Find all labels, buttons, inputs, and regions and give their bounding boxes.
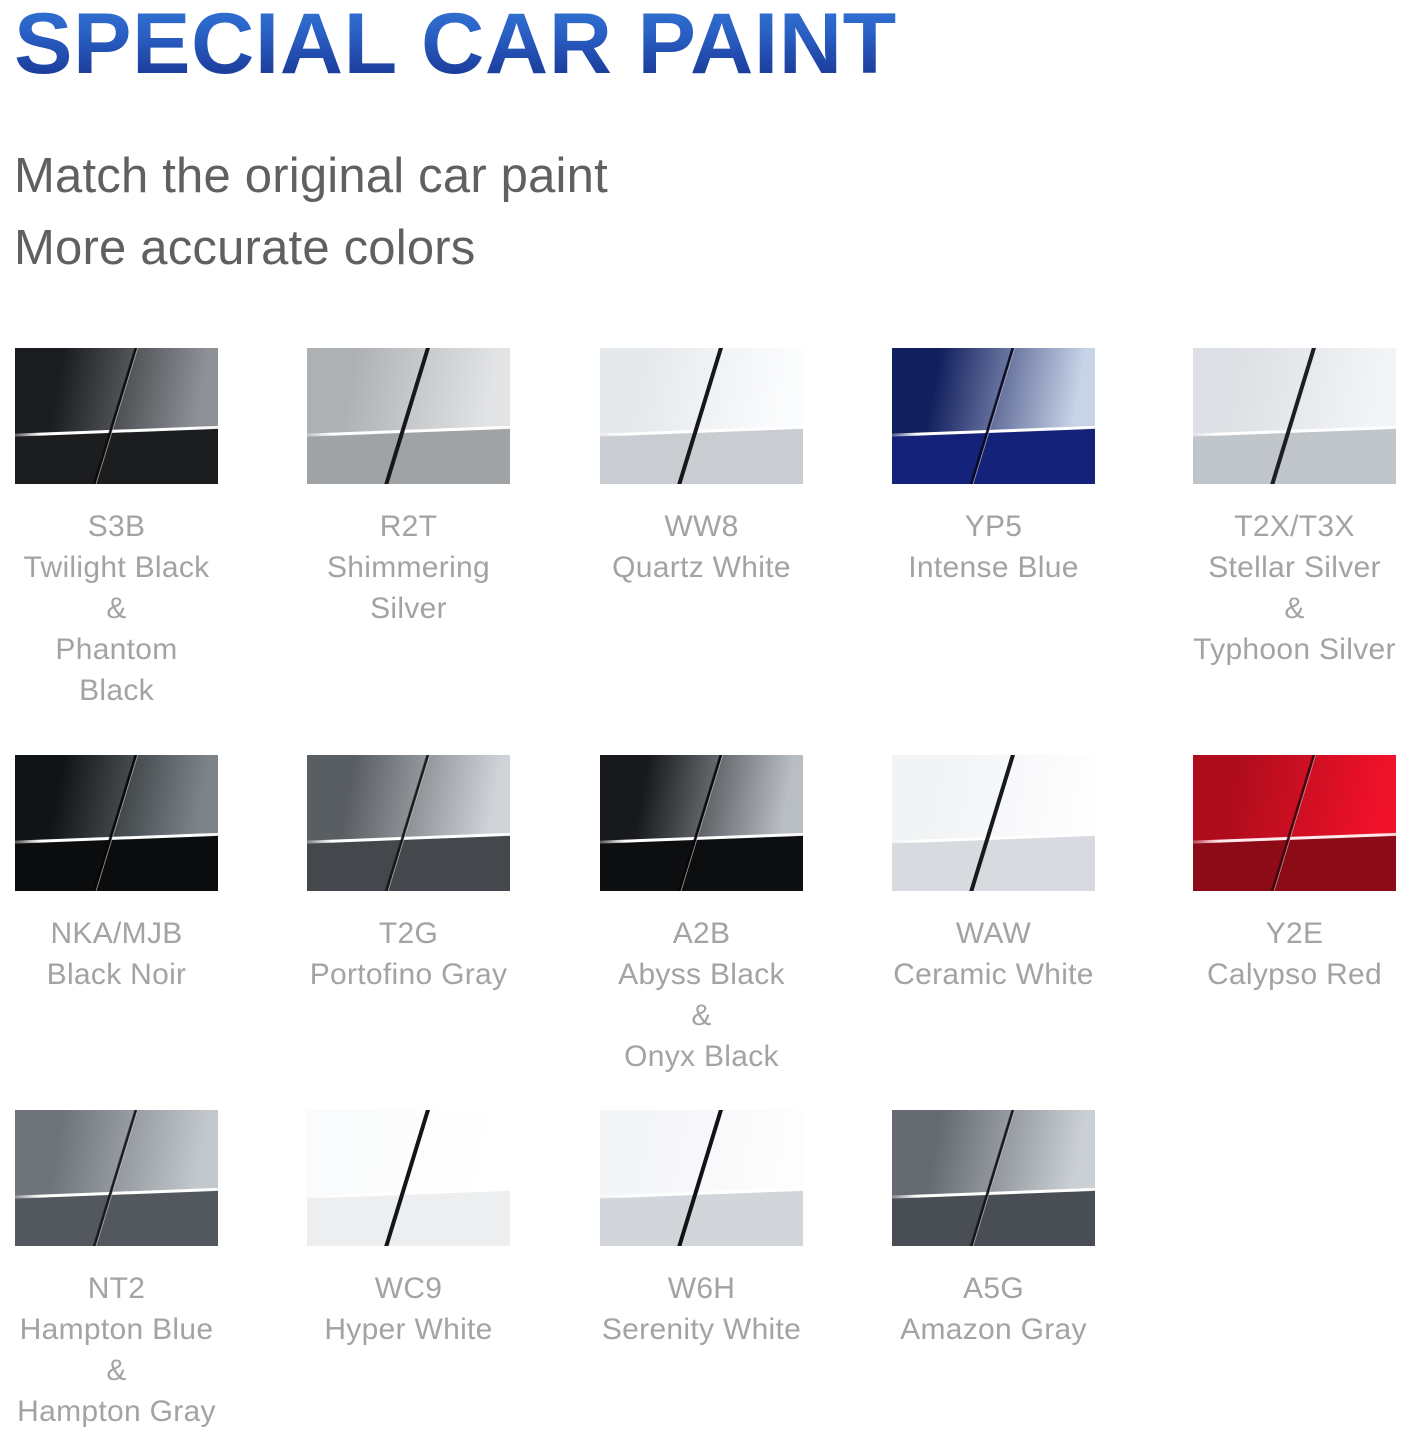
paint-swatch-cell[interactable]: NT2Hampton Blue&Hampton Gray (15, 1110, 255, 1431)
panel-lower-surface (600, 834, 803, 891)
paint-swatch-cell[interactable]: NKA/MJBBlack Noir (15, 755, 255, 995)
panel-lower-surface (600, 1189, 803, 1246)
paint-swatch-cell[interactable]: S3BTwilight Black&Phantom Black (15, 348, 255, 711)
panel-lower-surface (15, 1189, 218, 1246)
panel-lower-surface (15, 427, 218, 484)
paint-name-line: Silver (307, 588, 510, 629)
paint-swatch-cell[interactable]: WW8Quartz White (600, 348, 840, 588)
paint-name-line: & (1193, 588, 1396, 629)
paint-code: WAW (892, 913, 1095, 954)
paint-label-block: YP5Intense Blue (892, 506, 1095, 588)
car-panel-image (15, 755, 218, 891)
car-panel-image (307, 348, 510, 484)
car-panel-image (600, 348, 803, 484)
panel-lower-surface (892, 427, 1095, 484)
paint-swatch-cell[interactable]: A2BAbyss Black&Onyx Black (600, 755, 840, 1077)
paint-swatch-cell[interactable]: T2X/T3XStellar Silver&Typhoon Silver (1193, 348, 1407, 670)
paint-name-line: & (15, 588, 218, 629)
paint-code: WC9 (307, 1268, 510, 1309)
car-panel-image (1193, 755, 1396, 891)
panel-lower-surface (600, 427, 803, 484)
paint-name-line: & (600, 995, 803, 1036)
panel-lower-surface (307, 427, 510, 484)
paint-code: A2B (600, 913, 803, 954)
car-panel-image (307, 1110, 510, 1246)
paint-name-line: Hyper White (307, 1309, 510, 1350)
paint-swatch-cell[interactable]: T2GPortofino Gray (307, 755, 547, 995)
paint-code: T2G (307, 913, 510, 954)
paint-name-line: Portofino Gray (307, 954, 510, 995)
paint-name-line: Ceramic White (892, 954, 1095, 995)
panel-lower-surface (892, 1189, 1095, 1246)
panel-lower-surface (15, 834, 218, 891)
paint-name-line: & (15, 1350, 218, 1391)
paint-label-block: A2BAbyss Black&Onyx Black (600, 913, 803, 1077)
paint-label-block: R2TShimmeringSilver (307, 506, 510, 629)
paint-swatch-grid: S3BTwilight Black&Phantom BlackR2TShimme… (0, 0, 1407, 1431)
paint-name-line: Amazon Gray (892, 1309, 1095, 1350)
car-panel-image (15, 348, 218, 484)
paint-code: Y2E (1193, 913, 1396, 954)
paint-code: T2X/T3X (1193, 506, 1396, 547)
car-panel-image (892, 1110, 1095, 1246)
paint-name-line: Black Noir (15, 954, 218, 995)
paint-swatch-cell[interactable]: A5GAmazon Gray (892, 1110, 1132, 1350)
panel-lower-surface (892, 834, 1095, 891)
paint-label-block: A5GAmazon Gray (892, 1268, 1095, 1350)
paint-swatch-cell[interactable]: WC9Hyper White (307, 1110, 547, 1350)
car-panel-image (892, 755, 1095, 891)
paint-name-line: Intense Blue (892, 547, 1095, 588)
paint-label-block: S3BTwilight Black&Phantom Black (15, 506, 218, 711)
paint-code: WW8 (600, 506, 803, 547)
paint-name-line: Twilight Black (15, 547, 218, 588)
car-panel-image (600, 755, 803, 891)
panel-lower-surface (307, 1189, 510, 1246)
paint-code: A5G (892, 1268, 1095, 1309)
car-panel-image (1193, 348, 1396, 484)
panel-lower-surface (1193, 834, 1396, 891)
paint-swatch-cell[interactable]: Y2ECalypso Red (1193, 755, 1407, 995)
panel-lower-surface (307, 834, 510, 891)
paint-name-line: Hampton Gray (15, 1391, 218, 1431)
car-panel-image (600, 1110, 803, 1246)
paint-name-line: Serenity White (600, 1309, 803, 1350)
panel-lower-surface (1193, 427, 1396, 484)
paint-label-block: Y2ECalypso Red (1193, 913, 1396, 995)
paint-swatch-cell[interactable]: YP5Intense Blue (892, 348, 1132, 588)
car-panel-image (892, 348, 1095, 484)
paint-code: R2T (307, 506, 510, 547)
car-panel-image (307, 755, 510, 891)
paint-code: S3B (15, 506, 218, 547)
paint-name-line: Onyx Black (600, 1036, 803, 1077)
paint-label-block: WAWCeramic White (892, 913, 1095, 995)
paint-swatch-cell[interactable]: WAWCeramic White (892, 755, 1132, 995)
paint-label-block: WC9Hyper White (307, 1268, 510, 1350)
paint-name-line: Shimmering (307, 547, 510, 588)
paint-code: W6H (600, 1268, 803, 1309)
page-root: SPECIAL CAR PAINT Match the original car… (0, 0, 1407, 1431)
paint-name-line: Typhoon Silver (1193, 629, 1396, 670)
paint-code: YP5 (892, 506, 1095, 547)
paint-name-line: Hampton Blue (15, 1309, 218, 1350)
paint-label-block: WW8Quartz White (600, 506, 803, 588)
paint-name-line: Abyss Black (600, 954, 803, 995)
paint-swatch-cell[interactable]: W6HSerenity White (600, 1110, 840, 1350)
paint-name-line: Calypso Red (1193, 954, 1396, 995)
paint-name-line: Stellar Silver (1193, 547, 1396, 588)
paint-code: NT2 (15, 1268, 218, 1309)
paint-label-block: T2GPortofino Gray (307, 913, 510, 995)
paint-name-line: Phantom Black (15, 629, 218, 711)
paint-name-line: Quartz White (600, 547, 803, 588)
paint-swatch-cell[interactable]: R2TShimmeringSilver (307, 348, 547, 629)
paint-label-block: W6HSerenity White (600, 1268, 803, 1350)
paint-code: NKA/MJB (15, 913, 218, 954)
paint-label-block: T2X/T3XStellar Silver&Typhoon Silver (1193, 506, 1396, 670)
paint-label-block: NT2Hampton Blue&Hampton Gray (15, 1268, 218, 1431)
car-panel-image (15, 1110, 218, 1246)
paint-label-block: NKA/MJBBlack Noir (15, 913, 218, 995)
